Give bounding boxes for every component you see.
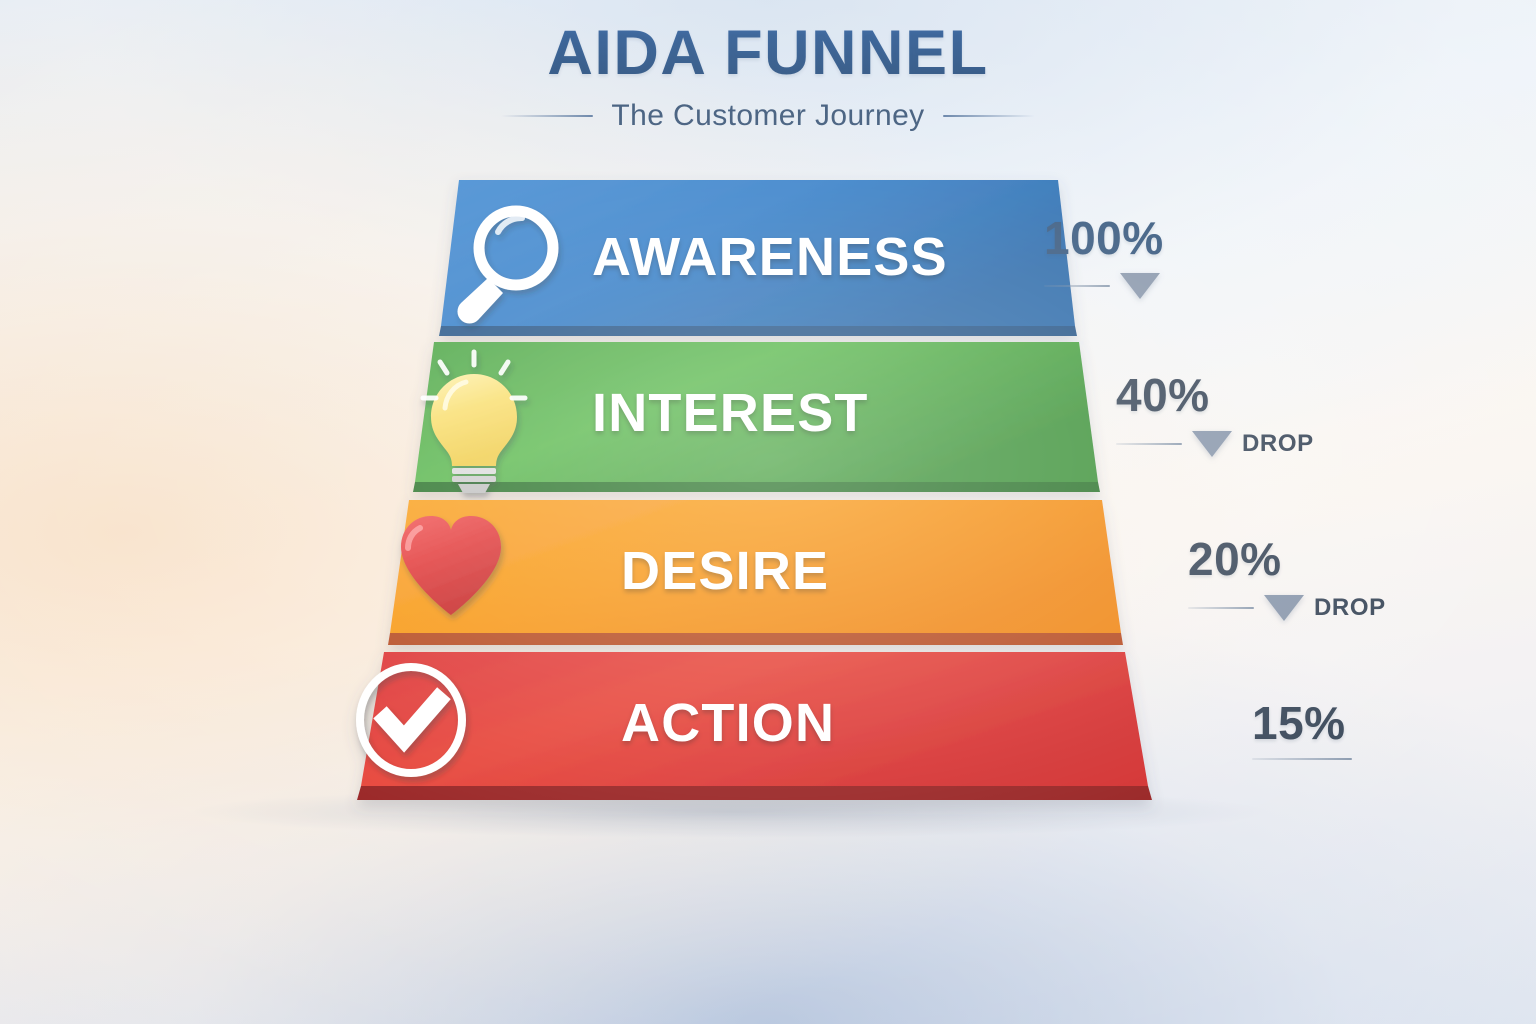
connector-line (1188, 607, 1254, 609)
metric-connector-desire: DROP (1188, 594, 1386, 622)
stage-label-awareness: AWARENESS (592, 226, 948, 288)
stage-edge-awareness (439, 326, 1077, 336)
stage-label-action: ACTION (621, 692, 835, 754)
metric-value-action: 15% (1252, 700, 1352, 746)
metric-drop-label-desire: DROP (1314, 594, 1386, 622)
stage-edge-desire (388, 633, 1123, 645)
stage-label-interest: INTEREST (592, 382, 869, 444)
metric-connector-interest: DROP (1116, 430, 1314, 458)
metric-drop-label-interest: DROP (1242, 430, 1314, 458)
stage-label-desire: DESIRE (621, 540, 829, 602)
connector-line (1116, 443, 1182, 445)
triangle-down-icon (1264, 595, 1304, 621)
metric-value-desire: 20% (1188, 536, 1386, 582)
metric-connector-awareness (1044, 273, 1164, 299)
metric-value-awareness: 100% (1044, 215, 1164, 261)
metric-awareness: 100% (1044, 215, 1164, 299)
metric-interest: 40% DROP (1116, 372, 1314, 458)
stage-edge-action (357, 786, 1152, 800)
metric-action: 15% (1252, 700, 1352, 760)
stage-edge-interest (413, 482, 1100, 492)
metric-value-interest: 40% (1116, 372, 1314, 418)
infographic-canvas: AIDA FUNNEL The Customer Journey (0, 0, 1536, 1024)
metric-connector-action (1252, 758, 1352, 760)
triangle-down-icon (1120, 273, 1160, 299)
connector-line (1252, 758, 1352, 760)
metric-desire: 20% DROP (1188, 536, 1386, 622)
funnel-pyramid (0, 0, 1536, 1024)
triangle-down-icon (1192, 431, 1232, 457)
connector-line (1044, 285, 1110, 287)
